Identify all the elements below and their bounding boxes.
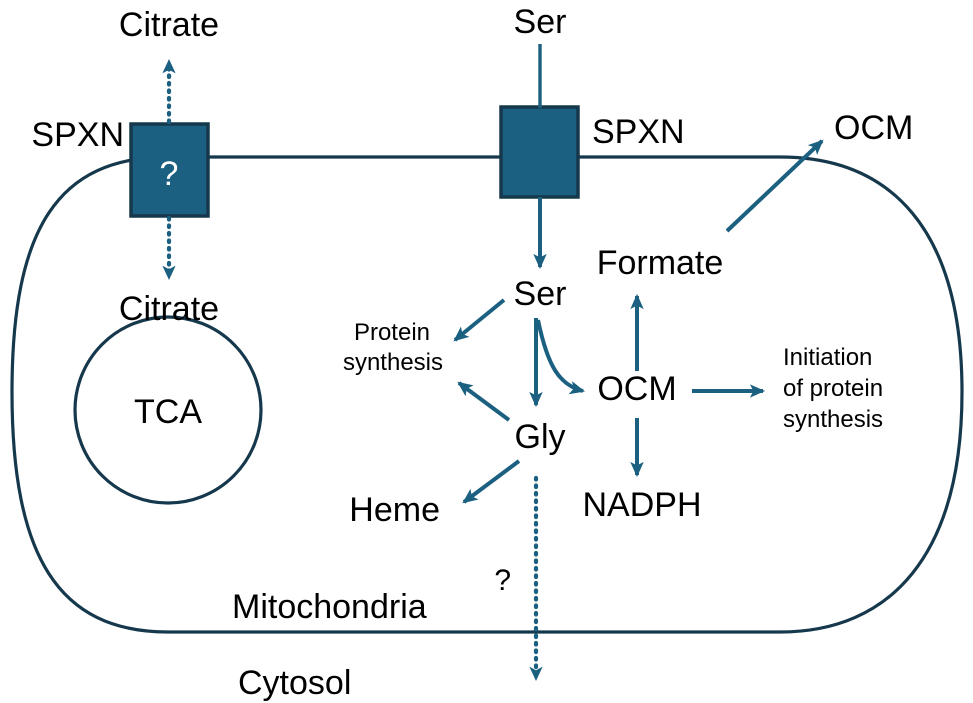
spxn-left-label: SPXN (31, 116, 124, 154)
protein-synthesis-label-line1: Protein (354, 319, 430, 346)
spxn-right-label: SPXN (592, 113, 685, 151)
pathway-canvas: TCA SPXN ? Citrate Citrate SPXN Ser Ser … (0, 0, 973, 703)
gly-export-question-mark: ? (494, 564, 511, 597)
initiation-label-line3: synthesis (783, 406, 883, 433)
nadph-label: NADPH (582, 486, 701, 524)
tca-label: TCA (134, 393, 202, 431)
ser-inside-label: Ser (514, 275, 567, 313)
spxn-left-question-mark: ? (160, 155, 179, 193)
ser-to-ocm-curved-arrow (538, 320, 583, 391)
citrate-inside-label: Citrate (119, 290, 219, 328)
initiation-label-line1: Initiation (783, 344, 872, 371)
citrate-outside-label: Citrate (119, 6, 219, 44)
gly-label: Gly (515, 418, 566, 456)
ocm-outside-label: OCM (834, 109, 913, 147)
ser-to-protein-synthesis-arrow (455, 300, 504, 340)
pathway-diagram: TCA SPXN ? Citrate Citrate SPXN Ser Ser … (0, 0, 973, 703)
spxn-right-transporter[interactable] (501, 107, 578, 197)
ocm-inside-label: OCM (597, 370, 676, 408)
formate-label: Formate (597, 244, 724, 282)
gly-to-heme-arrow (464, 461, 519, 502)
ocm-export-arrow (727, 141, 822, 231)
heme-label: Heme (349, 491, 440, 529)
gly-to-protein-synthesis-arrow (459, 383, 509, 420)
protein-synthesis-label-line2: synthesis (343, 349, 443, 376)
ser-outside-label: Ser (514, 3, 567, 41)
mitochondria-label: Mitochondria (232, 588, 427, 626)
cytosol-label: Cytosol (238, 664, 351, 702)
initiation-label-line2: of protein (783, 375, 883, 402)
